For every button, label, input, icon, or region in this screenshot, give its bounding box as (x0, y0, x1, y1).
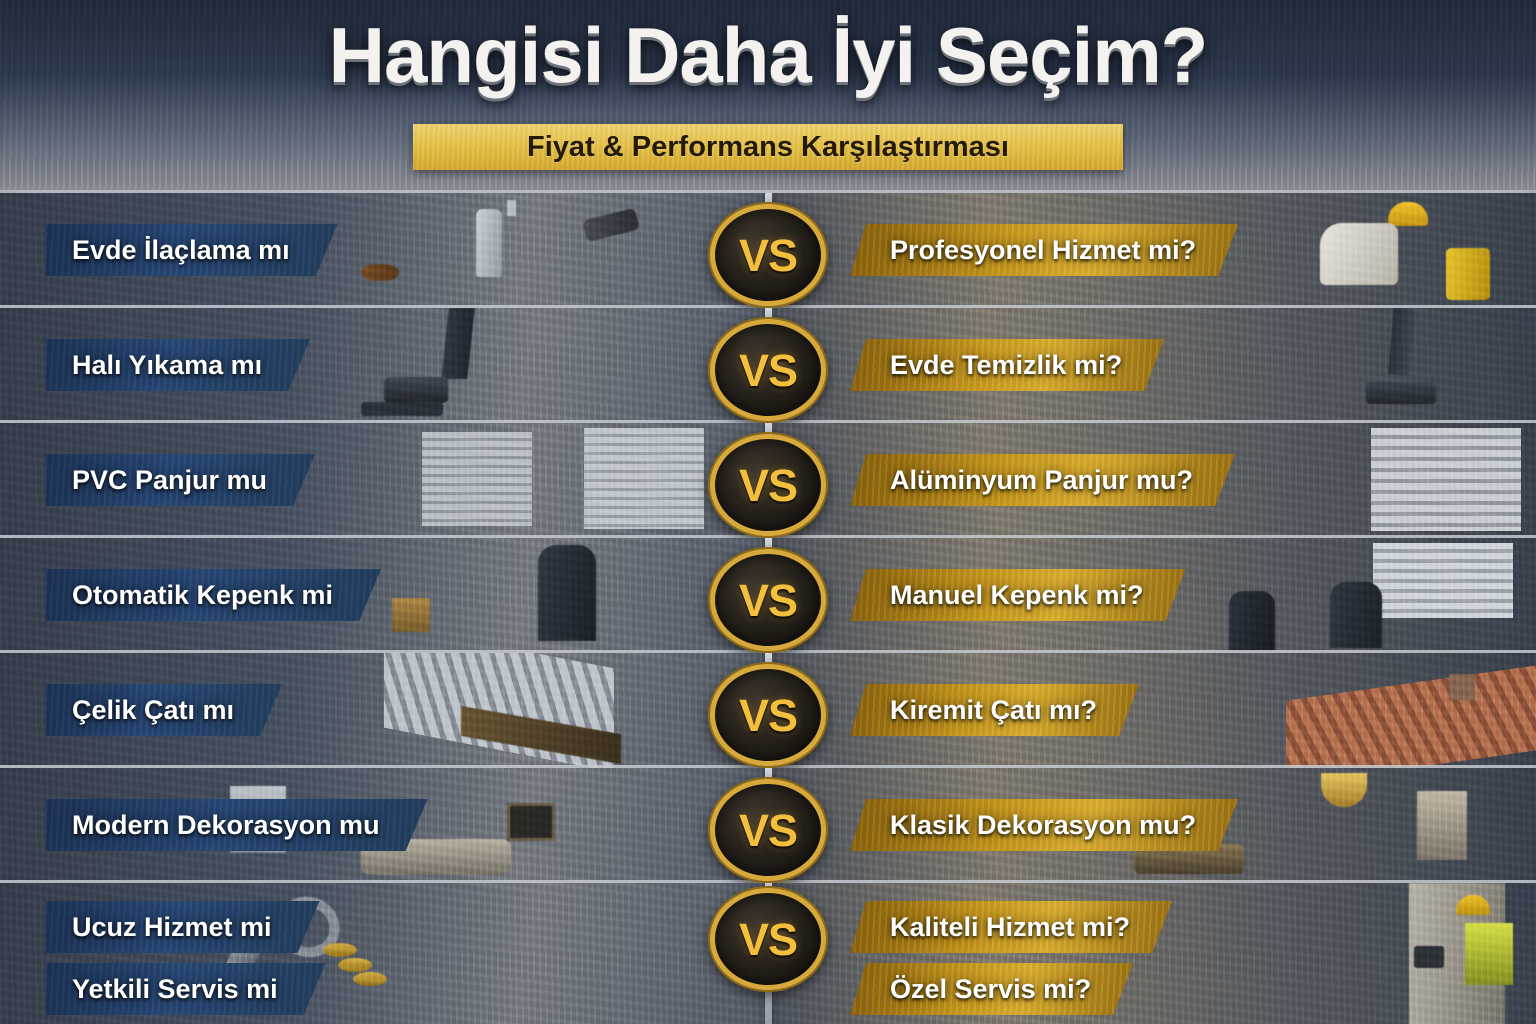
vs-badge-label: VS (739, 348, 797, 393)
vs-badge-label: VS (739, 693, 797, 738)
row-left-label: Çelik Çatı mı (46, 684, 282, 736)
row-left-label: Modern Dekorasyon mu (46, 799, 428, 851)
page-title: Hangisi Daha İyi Seçim? (0, 16, 1536, 94)
row-left-label: Halı Yıkama mı (46, 339, 310, 391)
row-right-label: Kiremit Çatı mı? (850, 684, 1139, 736)
vs-badge-label: VS (739, 578, 797, 623)
row-right-label: Özel Servis mi? (850, 963, 1133, 1015)
row-right-label: Kaliteli Hizmet mi? (850, 901, 1172, 953)
comparison-row: Modern Dekorasyon mu Klasik Dekorasyon m… (0, 765, 1536, 883)
vs-badge-label: VS (739, 917, 797, 962)
comparison-row: Halı Yıkama mı Evde Temizlik mi? VS (0, 305, 1536, 423)
comparison-row: Evde İlaçlama mı Profesyonel Hizmet mi? … (0, 190, 1536, 308)
vs-badge: VS (710, 779, 826, 881)
poster-header: Hangisi Daha İyi Seçim? Fiyat & Performa… (0, 0, 1536, 190)
vs-badge: VS (710, 549, 826, 651)
subtitle-banner: Fiyat & Performans Karşılaştırması (413, 124, 1123, 170)
vs-badge: VS (710, 319, 826, 421)
row-left-label: Evde İlaçlama mı (46, 224, 338, 276)
row-left-label: Otomatik Kepenk mi (46, 569, 381, 621)
vs-badge: VS (710, 434, 826, 536)
row-right-label: Profesyonel Hizmet mi? (850, 224, 1238, 276)
row-right-label: Alüminyum Panjur mu? (850, 454, 1235, 506)
vs-badge: VS (710, 888, 826, 990)
comparison-row: Çelik Çatı mı Kiremit Çatı mı? VS (0, 650, 1536, 768)
vs-badge: VS (710, 664, 826, 766)
row-right-label: Manuel Kepenk mi? (850, 569, 1186, 621)
row-left-label: Ucuz Hizmet mi (46, 901, 320, 953)
comparison-row: Otomatik Kepenk mi Manuel Kepenk mi? VS (0, 535, 1536, 653)
comparison-row-double: Ucuz Hizmet mi Kaliteli Hizmet mi? Yetki… (0, 880, 1536, 1024)
vs-badge-label: VS (739, 808, 797, 853)
row-right-label: Klasik Dekorasyon mu? (850, 799, 1238, 851)
row-left-label: Yetkili Servis mi (46, 963, 326, 1015)
comparison-rows: Evde İlaçlama mı Profesyonel Hizmet mi? … (0, 190, 1536, 1024)
row-left-label: PVC Panjur mu (46, 454, 315, 506)
vs-badge-label: VS (739, 463, 797, 508)
comparison-row: PVC Panjur mu Alüminyum Panjur mu? VS (0, 420, 1536, 538)
vs-badge-label: VS (739, 233, 797, 278)
vs-badge: VS (710, 204, 826, 306)
infographic-poster: Hangisi Daha İyi Seçim? Fiyat & Performa… (0, 0, 1536, 1024)
row-right-label: Evde Temizlik mi? (850, 339, 1164, 391)
subtitle-text: Fiyat & Performans Karşılaştırması (413, 124, 1123, 170)
